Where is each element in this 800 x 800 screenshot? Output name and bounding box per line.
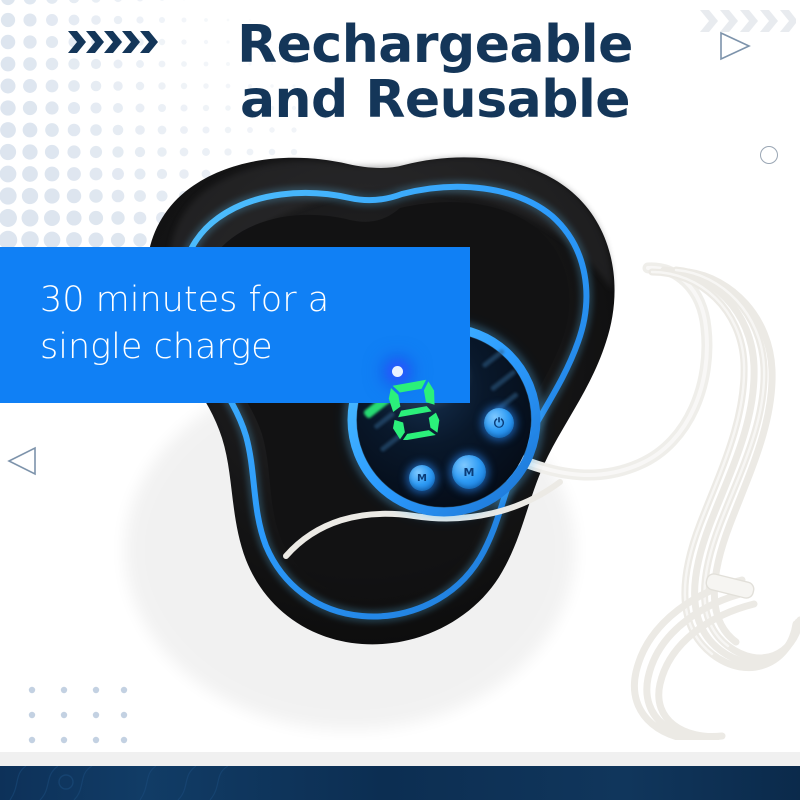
bottom-light-strip [0,752,800,766]
feature-banner-text: 30 minutes for a single charge [40,277,460,372]
led-indicator-icon [392,366,403,377]
display-digit [383,378,449,440]
mode-button[interactable]: M [452,455,486,489]
power-button[interactable]: ⏻ [484,408,514,438]
promo-banner-canvas: Rechargeable and Reusable [0,0,800,800]
bottom-navy-bar [0,766,800,800]
page-title: Rechargeable and Reusable [0,18,800,128]
mode-secondary-button[interactable]: M [409,465,435,491]
